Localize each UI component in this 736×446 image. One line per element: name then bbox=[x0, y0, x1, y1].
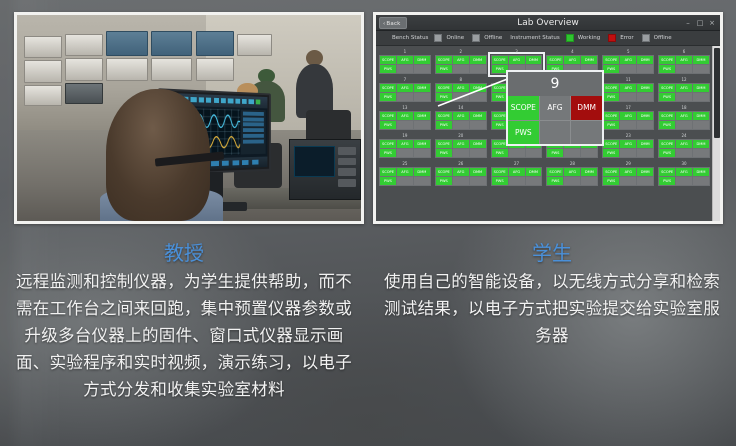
bench-instrument-cells[interactable]: SCOPEAFGDMMPWS bbox=[491, 167, 543, 186]
instrument-cell[interactable]: DMM bbox=[470, 168, 486, 176]
instrument-cell bbox=[397, 149, 413, 157]
instrument-offline-swatch bbox=[642, 34, 650, 42]
rack-instrument bbox=[65, 83, 103, 104]
rack-instrument-blue bbox=[196, 31, 234, 56]
instrument-cell[interactable]: SCOPE bbox=[659, 140, 675, 148]
rack-instrument bbox=[151, 58, 192, 81]
instrument-button bbox=[338, 158, 356, 166]
instrument-cell[interactable]: PWS bbox=[659, 177, 675, 185]
bench-12[interactable]: 12SCOPEAFGDMMPWS bbox=[658, 77, 710, 102]
lab-classroom-scene bbox=[17, 15, 361, 221]
instrument-cell bbox=[397, 121, 413, 129]
bench-29[interactable]: 29SCOPEAFGDMMPWS bbox=[602, 161, 654, 186]
instrument-cell[interactable]: PWS bbox=[436, 177, 452, 185]
instrument-cell bbox=[414, 121, 430, 129]
bench-25[interactable]: 25SCOPEAFGDMMPWS bbox=[379, 161, 431, 186]
instrument-cell[interactable]: SCOPE bbox=[436, 140, 452, 148]
bench-2[interactable]: 2SCOPEAFGDMMPWS bbox=[435, 49, 487, 74]
bench-number: 25 bbox=[379, 161, 431, 166]
maximize-icon[interactable]: □ bbox=[696, 19, 704, 27]
instrument-cell bbox=[637, 93, 653, 101]
bench-number: 27 bbox=[491, 161, 543, 166]
instrument-cell[interactable]: DMM bbox=[414, 168, 430, 176]
window-controls[interactable]: – □ × bbox=[684, 19, 716, 27]
instrument-cell[interactable]: PWS bbox=[436, 149, 452, 157]
rack-instrument-blue bbox=[151, 31, 192, 56]
popup-cell bbox=[540, 121, 571, 145]
instrument-cell bbox=[397, 65, 413, 73]
instrument-cell[interactable]: PWS bbox=[380, 65, 396, 73]
instrument-cell[interactable]: DMM bbox=[693, 112, 709, 120]
bench-20[interactable]: 20SCOPEAFGDMMPWS bbox=[435, 133, 487, 158]
instrument-cell[interactable]: AFG bbox=[453, 140, 469, 148]
instrument-cell[interactable]: PWS bbox=[659, 121, 675, 129]
instrument-cell[interactable]: AFG bbox=[676, 168, 692, 176]
bench-offline-swatch bbox=[472, 34, 480, 42]
minimize-icon[interactable]: – bbox=[684, 19, 692, 27]
popup-cell-dmm[interactable]: DMM bbox=[571, 96, 602, 120]
instrument-cell[interactable]: SCOPE bbox=[659, 112, 675, 120]
instrument-cell[interactable]: DMM bbox=[693, 56, 709, 64]
bench-17[interactable]: 17SCOPEAFGDMMPWS bbox=[602, 105, 654, 130]
instrument-cell[interactable]: PWS bbox=[380, 93, 396, 101]
instrument-status-label: Instrument Status bbox=[510, 35, 560, 41]
bench-number: 20 bbox=[435, 133, 487, 138]
bench-number: 17 bbox=[602, 105, 654, 110]
instrument-cell bbox=[397, 93, 413, 101]
instrument-cell bbox=[509, 177, 525, 185]
instrument-cell[interactable]: AFG bbox=[676, 84, 692, 92]
rack-instrument bbox=[106, 58, 147, 81]
bench-number: 19 bbox=[379, 133, 431, 138]
popup-bench-number: 9 bbox=[508, 72, 602, 96]
professor-title: 教授 bbox=[12, 240, 356, 266]
bench-instrument-cells[interactable]: SCOPEAFGDMMPWS bbox=[658, 83, 710, 102]
description-columns: 教授 远程监测和控制仪器，为学生提供帮助，而不需在工作台之间来回跑，集中预置仪器… bbox=[0, 236, 736, 446]
bench-number: 13 bbox=[379, 105, 431, 110]
rack-instrument-blue bbox=[106, 31, 147, 56]
instrument-cell[interactable]: SCOPE bbox=[547, 168, 563, 176]
rack-instrument bbox=[24, 85, 62, 106]
instrument-cell bbox=[526, 149, 542, 157]
instrument-cell[interactable]: SCOPE bbox=[659, 168, 675, 176]
instrument-cell[interactable]: DMM bbox=[637, 84, 653, 92]
student-description: 使用自己的智能设备，以无线方式分享和检索测试结果，以电子方式把实验提交给实验室服… bbox=[380, 268, 724, 349]
scope-side-panel bbox=[242, 110, 267, 155]
bench-instrument-cells[interactable]: SCOPEAFGDMMPWS bbox=[658, 55, 710, 74]
instrument-cell bbox=[637, 121, 653, 129]
bench-number: 12 bbox=[658, 77, 710, 82]
instrument-cell bbox=[414, 177, 430, 185]
app-titlebar: ‹Back Lab Overview – □ × bbox=[376, 15, 720, 31]
instrument-cell bbox=[414, 149, 430, 157]
instrument-cell[interactable]: PWS bbox=[603, 121, 619, 129]
instrument-offline-label: Offline bbox=[654, 35, 672, 41]
bench-instrument-cells[interactable]: SCOPEAFGDMMPWS bbox=[379, 111, 431, 130]
instrument-cell[interactable]: SCOPE bbox=[380, 168, 396, 176]
instrument-cell bbox=[693, 177, 709, 185]
instrument-cell[interactable]: SCOPE bbox=[492, 168, 508, 176]
professor-description: 远程监测和控制仪器，为学生提供帮助，而不需在工作台之间来回跑，集中预置仪器参数或… bbox=[12, 268, 356, 403]
instrument-cell[interactable]: SCOPE bbox=[547, 56, 563, 64]
bench-number: 28 bbox=[546, 161, 598, 166]
instrument-cell bbox=[676, 149, 692, 157]
instrument-cell[interactable]: SCOPE bbox=[603, 56, 619, 64]
instrument-cell bbox=[397, 177, 413, 185]
instrument-cell[interactable]: AFG bbox=[397, 140, 413, 148]
bench-detail-popup[interactable]: 9 SCOPEAFGDMMPWS bbox=[506, 70, 604, 146]
instrument-cell[interactable]: PWS bbox=[603, 177, 619, 185]
rack-instrument bbox=[65, 34, 103, 57]
instrument-button bbox=[338, 147, 356, 155]
bench-offline-label: Offline bbox=[484, 35, 502, 41]
bench-instrument-cells[interactable]: SCOPEAFGDMMPWS bbox=[379, 139, 431, 158]
instrument-cell[interactable]: AFG bbox=[453, 56, 469, 64]
instrument-cell[interactable]: SCOPE bbox=[380, 112, 396, 120]
instrument-cell bbox=[693, 65, 709, 73]
bench-instrument-cells[interactable]: SCOPEAFGDMMPWS bbox=[379, 55, 431, 74]
bench-instrument-cells[interactable]: SCOPEAFGDMMPWS bbox=[602, 167, 654, 186]
instrument-cell[interactable]: SCOPE bbox=[380, 140, 396, 148]
instrument-cell[interactable]: DMM bbox=[637, 112, 653, 120]
lab-overview-screenshot: ‹Back Lab Overview – □ × Bench Status On… bbox=[376, 15, 720, 221]
instrument-cell[interactable]: PWS bbox=[380, 149, 396, 157]
bench-number: 30 bbox=[658, 161, 710, 166]
instrument-cell[interactable]: PWS bbox=[659, 149, 675, 157]
bench-status-label: Bench Status bbox=[392, 35, 428, 41]
instrument-cell[interactable]: AFG bbox=[620, 112, 636, 120]
instrument-cell[interactable]: AFG bbox=[564, 56, 580, 64]
instrument-cell[interactable]: PWS bbox=[603, 149, 619, 157]
instrument-cell bbox=[676, 65, 692, 73]
instrument-cell[interactable]: AFG bbox=[509, 168, 525, 176]
bench-instrument-cells[interactable]: SCOPEAFGDMMPWS bbox=[658, 111, 710, 130]
bench-number: 3 bbox=[491, 49, 543, 54]
instrument-cell[interactable]: AFG bbox=[397, 168, 413, 176]
instrument-cell[interactable]: DMM bbox=[693, 140, 709, 148]
bench-18[interactable]: 18SCOPEAFGDMMPWS bbox=[658, 105, 710, 130]
bench-7[interactable]: 7SCOPEAFGDMMPWS bbox=[379, 77, 431, 102]
bench-instrument-cells[interactable]: SCOPEAFGDMMPWS bbox=[379, 83, 431, 102]
instrument-cell[interactable]: PWS bbox=[659, 65, 675, 73]
bench-online-label: Online bbox=[446, 35, 464, 41]
instrument-cell[interactable]: AFG bbox=[397, 84, 413, 92]
instrument-cell[interactable]: AFG bbox=[397, 56, 413, 64]
bench-instrument-cells[interactable]: SCOPEAFGDMMPWS bbox=[546, 167, 598, 186]
instrument-cell bbox=[581, 149, 597, 157]
rack-instrument bbox=[24, 36, 62, 59]
instrument-cell bbox=[453, 149, 469, 157]
instrument-screen bbox=[294, 146, 335, 177]
bench-instrument-cells[interactable]: SCOPEAFGDMMPWS bbox=[435, 139, 487, 158]
instrument-cell[interactable]: AFG bbox=[397, 112, 413, 120]
instrument-cell[interactable]: AFG bbox=[676, 56, 692, 64]
rack-instrument bbox=[24, 60, 62, 83]
bench-instrument-cells[interactable]: SCOPEAFGDMMPWS bbox=[602, 139, 654, 158]
bench-instrument bbox=[289, 139, 361, 201]
instrument-cell[interactable]: SCOPE bbox=[492, 56, 508, 64]
instrument-cell[interactable]: SCOPE bbox=[603, 112, 619, 120]
lab-overview-photo-frame: ‹Back Lab Overview – □ × Bench Status On… bbox=[373, 12, 723, 224]
instrument-cell bbox=[676, 93, 692, 101]
instrument-cell[interactable]: DMM bbox=[637, 56, 653, 64]
instrument-cell[interactable]: DMM bbox=[637, 140, 653, 148]
bench-number: 11 bbox=[602, 77, 654, 82]
instrument-cell[interactable]: DMM bbox=[693, 84, 709, 92]
instrument-cell[interactable]: PWS bbox=[547, 177, 563, 185]
bench-instrument-cells[interactable]: SCOPEAFGDMMPWS bbox=[602, 55, 654, 74]
close-icon[interactable]: × bbox=[708, 19, 716, 27]
popup-instrument-cells[interactable]: SCOPEAFGDMMPWS bbox=[508, 96, 602, 144]
instrument-cell bbox=[564, 177, 580, 185]
bench-23[interactable]: 23SCOPEAFGDMMPWS bbox=[602, 133, 654, 158]
instrument-cell[interactable]: DMM bbox=[526, 56, 542, 64]
bench-26[interactable]: 26SCOPEAFGDMMPWS bbox=[435, 161, 487, 186]
bench-number: 6 bbox=[658, 49, 710, 54]
student-column: 学生 使用自己的智能设备，以无线方式分享和检索测试结果，以电子方式把实验提交给实… bbox=[368, 236, 736, 446]
instrument-cell[interactable]: DMM bbox=[470, 140, 486, 148]
instrument-cell bbox=[637, 149, 653, 157]
bench-number: 26 bbox=[435, 161, 487, 166]
instrument-cell bbox=[470, 177, 486, 185]
instrument-cell[interactable]: SCOPE bbox=[659, 84, 675, 92]
instrument-cell bbox=[637, 177, 653, 185]
popup-cell-scope[interactable]: SCOPE bbox=[508, 96, 539, 120]
instrument-cell[interactable]: AFG bbox=[620, 168, 636, 176]
instrument-cell bbox=[620, 93, 636, 101]
instrument-cell bbox=[581, 177, 597, 185]
professor-column: 教授 远程监测和控制仪器，为学生提供帮助，而不需在工作台之间来回跑，集中预置仪器… bbox=[0, 236, 368, 446]
student-title: 学生 bbox=[380, 240, 724, 266]
instrument-cell[interactable]: PWS bbox=[603, 93, 619, 101]
popup-cell-pws[interactable]: PWS bbox=[508, 121, 539, 145]
instrument-cell[interactable]: DMM bbox=[414, 140, 430, 148]
bench-13[interactable]: 13SCOPEAFGDMMPWS bbox=[379, 105, 431, 130]
instrument-cell[interactable]: AFG bbox=[620, 84, 636, 92]
instrument-cell[interactable]: DMM bbox=[637, 168, 653, 176]
instrument-cell bbox=[453, 177, 469, 185]
app-title: Lab Overview bbox=[376, 15, 720, 31]
instrument-cell[interactable]: AFG bbox=[676, 112, 692, 120]
bench-instrument-cells[interactable]: SCOPEAFGDMMPWS bbox=[658, 167, 710, 186]
instrument-cell bbox=[693, 149, 709, 157]
bench-28[interactable]: 28SCOPEAFGDMMPWS bbox=[546, 161, 598, 186]
instrument-cell bbox=[564, 149, 580, 157]
instrument-cell[interactable]: AFG bbox=[453, 168, 469, 176]
rack-instrument bbox=[65, 58, 103, 81]
bench-11[interactable]: 11SCOPEAFGDMMPWS bbox=[602, 77, 654, 102]
instrument-cell bbox=[693, 121, 709, 129]
bench-grid-area[interactable]: 1SCOPEAFGDMMPWS2SCOPEAFGDMMPWS3SCOPEAFGD… bbox=[376, 46, 712, 221]
instrument-cell bbox=[620, 121, 636, 129]
instrument-cell[interactable]: SCOPE bbox=[436, 56, 452, 64]
bench-instrument-cells[interactable]: SCOPEAFGDMMPWS bbox=[602, 111, 654, 130]
bench-number: 23 bbox=[602, 133, 654, 138]
instrument-cell[interactable]: PWS bbox=[492, 149, 508, 157]
professor-photo-frame bbox=[14, 12, 364, 224]
instrument-cell bbox=[453, 121, 469, 129]
instrument-error-swatch bbox=[608, 34, 616, 42]
bench-number: 4 bbox=[546, 49, 598, 54]
bench-24[interactable]: 24SCOPEAFGDMMPWS bbox=[658, 133, 710, 158]
instrument-cell[interactable]: DMM bbox=[693, 168, 709, 176]
instrument-cell[interactable]: DMM bbox=[526, 168, 542, 176]
instrument-cell[interactable]: AFG bbox=[676, 140, 692, 148]
popup-cell-afg[interactable]: AFG bbox=[540, 96, 571, 120]
instrument-working-swatch bbox=[566, 34, 574, 42]
instrument-cell[interactable]: SCOPE bbox=[603, 84, 619, 92]
instrument-working-label: Working bbox=[578, 35, 600, 41]
instrument-cell[interactable]: PWS bbox=[380, 121, 396, 129]
bench-1[interactable]: 1SCOPEAFGDMMPWS bbox=[379, 49, 431, 74]
instrument-cell[interactable]: SCOPE bbox=[659, 56, 675, 64]
photo-row: ‹Back Lab Overview – □ × Bench Status On… bbox=[0, 0, 736, 236]
bench-5[interactable]: 5SCOPEAFGDMMPWS bbox=[602, 49, 654, 74]
popup-cell bbox=[571, 121, 602, 145]
instrument-cell bbox=[526, 177, 542, 185]
instrument-cell bbox=[509, 149, 525, 157]
scrollbar-thumb[interactable] bbox=[714, 48, 720, 138]
bench-number: 2 bbox=[435, 49, 487, 54]
bench-instrument-cells[interactable]: SCOPEAFGDMMPWS bbox=[602, 83, 654, 102]
instrument-cell bbox=[620, 65, 636, 73]
bench-instrument-cells[interactable]: SCOPEAFGDMMPWS bbox=[379, 167, 431, 186]
instrument-cell bbox=[676, 121, 692, 129]
bench-number: 29 bbox=[602, 161, 654, 166]
bench-27[interactable]: 27SCOPEAFGDMMPWS bbox=[491, 161, 543, 186]
bench-number: 18 bbox=[658, 105, 710, 110]
instrument-cell bbox=[676, 177, 692, 185]
bench-30[interactable]: 30SCOPEAFGDMMPWS bbox=[658, 161, 710, 186]
instrument-cell[interactable]: DMM bbox=[581, 56, 597, 64]
bench-online-swatch bbox=[434, 34, 442, 42]
instrument-cell[interactable]: PWS bbox=[547, 149, 563, 157]
instrument-cell[interactable]: SCOPE bbox=[603, 168, 619, 176]
instrument-cell bbox=[470, 121, 486, 129]
instrument-cell[interactable]: PWS bbox=[380, 177, 396, 185]
instrument-cell[interactable]: DMM bbox=[414, 56, 430, 64]
status-legend-bar: Bench Status Online Offline Instrument S… bbox=[376, 31, 720, 46]
professor-photo bbox=[17, 15, 361, 221]
instrument-cell[interactable]: PWS bbox=[492, 177, 508, 185]
bench-6[interactable]: 6SCOPEAFGDMMPWS bbox=[658, 49, 710, 74]
bench-number: 5 bbox=[602, 49, 654, 54]
rack-instrument bbox=[237, 34, 271, 57]
instrument-cell[interactable]: SCOPE bbox=[380, 56, 396, 64]
instrument-cell[interactable]: AFG bbox=[564, 168, 580, 176]
bench-number: 7 bbox=[379, 77, 431, 82]
instrument-cell[interactable]: DMM bbox=[470, 56, 486, 64]
instrument-error-label: Error bbox=[620, 35, 633, 41]
instrument-button bbox=[338, 179, 356, 187]
rack-instrument bbox=[196, 58, 234, 81]
instrument-cell[interactable]: PWS bbox=[436, 121, 452, 129]
instrument-cell[interactable]: PWS bbox=[603, 65, 619, 73]
instrument-cell bbox=[470, 149, 486, 157]
instrument-cell bbox=[637, 65, 653, 73]
instrument-cell[interactable]: SCOPE bbox=[436, 168, 452, 176]
instrument-cell[interactable]: SCOPE bbox=[603, 140, 619, 148]
vertical-scrollbar[interactable] bbox=[712, 46, 720, 221]
instrument-cell[interactable]: PWS bbox=[659, 93, 675, 101]
instrument-cell bbox=[620, 149, 636, 157]
bench-instrument-cells[interactable]: SCOPEAFGDMMPWS bbox=[658, 139, 710, 158]
bench-number: 1 bbox=[379, 49, 431, 54]
lab-overview-app: ‹Back Lab Overview – □ × Bench Status On… bbox=[376, 15, 720, 221]
instrument-cell[interactable]: AFG bbox=[620, 56, 636, 64]
instrument-cell[interactable]: AFG bbox=[620, 140, 636, 148]
instrument-cell[interactable]: DMM bbox=[581, 168, 597, 176]
instrument-button bbox=[338, 168, 356, 176]
instrument-cell bbox=[693, 93, 709, 101]
instrument-cell[interactable]: AFG bbox=[509, 56, 525, 64]
instrument-cell bbox=[620, 177, 636, 185]
bench-instrument-cells[interactable]: SCOPEAFGDMMPWS bbox=[435, 167, 487, 186]
bench-number: 24 bbox=[658, 133, 710, 138]
bench-19[interactable]: 19SCOPEAFGDMMPWS bbox=[379, 133, 431, 158]
instrument-cell[interactable]: SCOPE bbox=[380, 84, 396, 92]
